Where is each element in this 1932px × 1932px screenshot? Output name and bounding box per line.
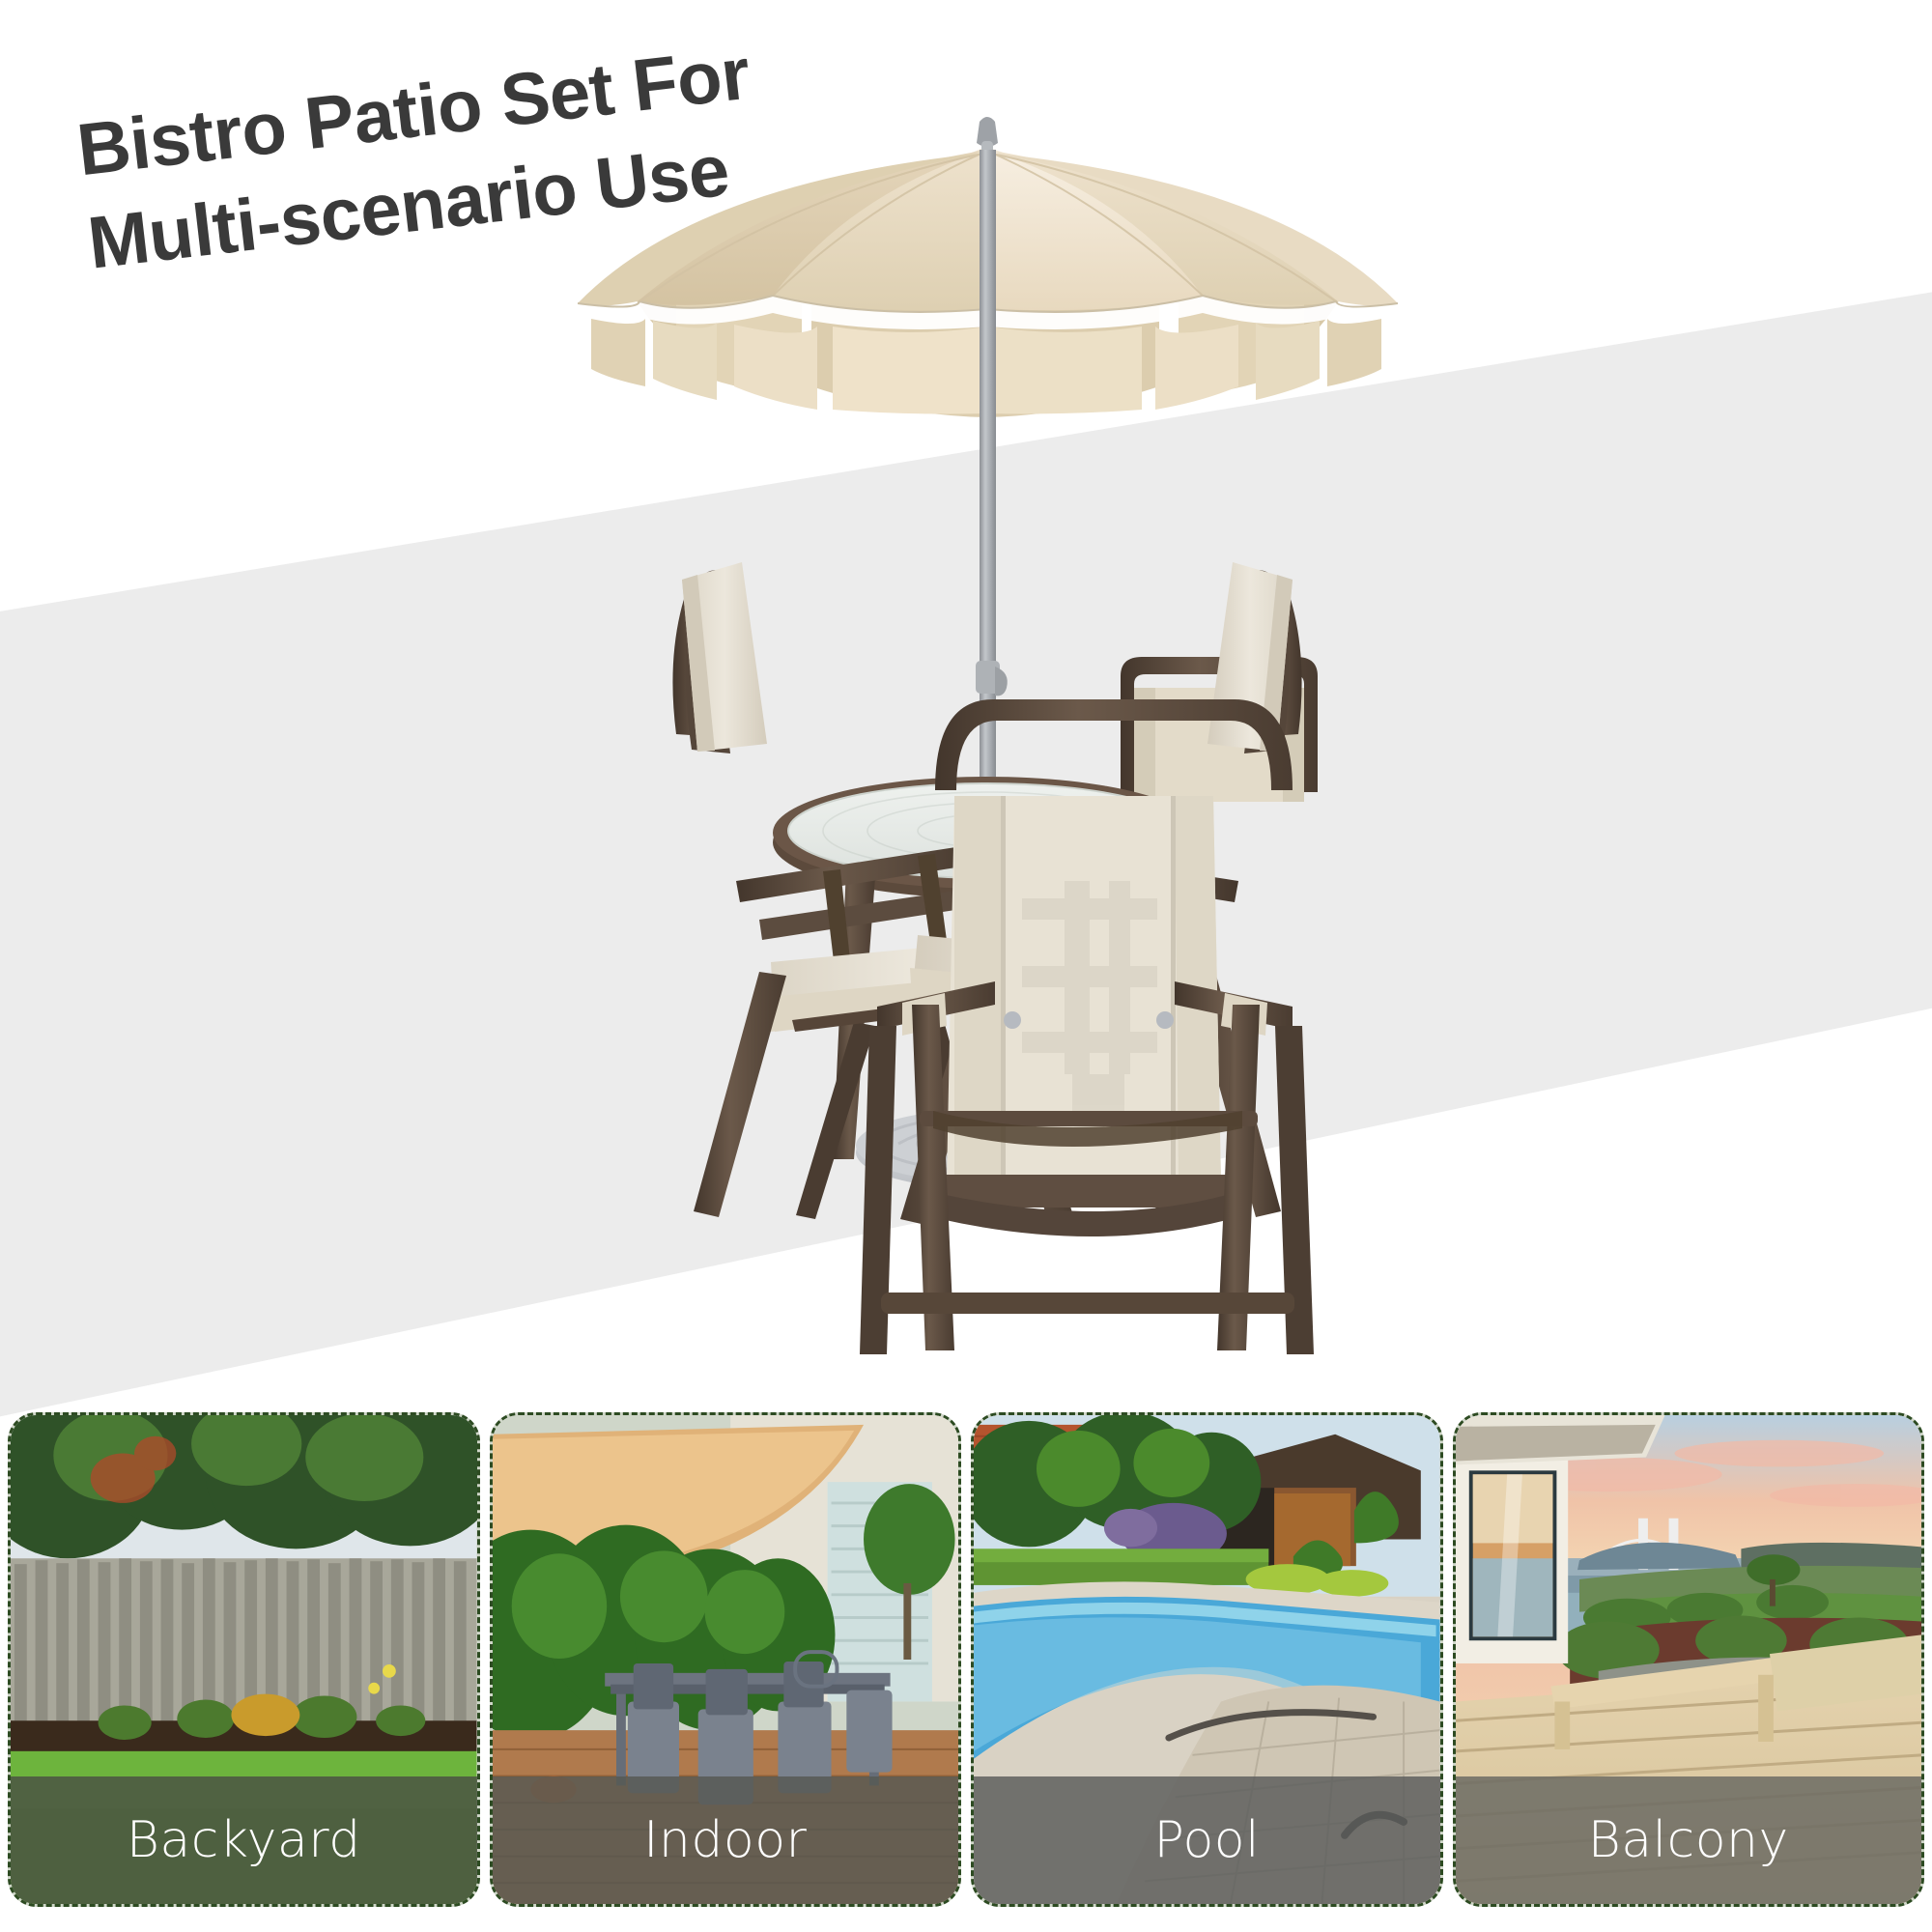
thumbnail-label-balcony: Balcony	[1588, 1811, 1789, 1869]
thumbnail-label-pool: Pool	[1153, 1811, 1260, 1869]
caption-bar-backyard: Backyard	[11, 1776, 477, 1904]
thumbnail-indoor[interactable]: Indoor	[490, 1412, 962, 1907]
hero-product-image	[0, 0, 1932, 1381]
scenario-thumbnail-strip: Backyard	[0, 1412, 1932, 1907]
promo-page: Bistro Patio Set For Multi-scenario Use	[0, 0, 1932, 1932]
thumbnail-backyard[interactable]: Backyard	[8, 1412, 480, 1907]
caption-bar-balcony: Balcony	[1456, 1776, 1922, 1904]
thumbnail-label-backyard: Backyard	[127, 1811, 361, 1869]
thumbnail-balcony[interactable]: Balcony	[1453, 1412, 1925, 1907]
caption-bar-pool: Pool	[974, 1776, 1440, 1904]
caption-bar-indoor: Indoor	[493, 1776, 959, 1904]
thumbnail-label-indoor: Indoor	[643, 1811, 807, 1869]
thumbnail-pool[interactable]: Pool	[971, 1412, 1443, 1907]
